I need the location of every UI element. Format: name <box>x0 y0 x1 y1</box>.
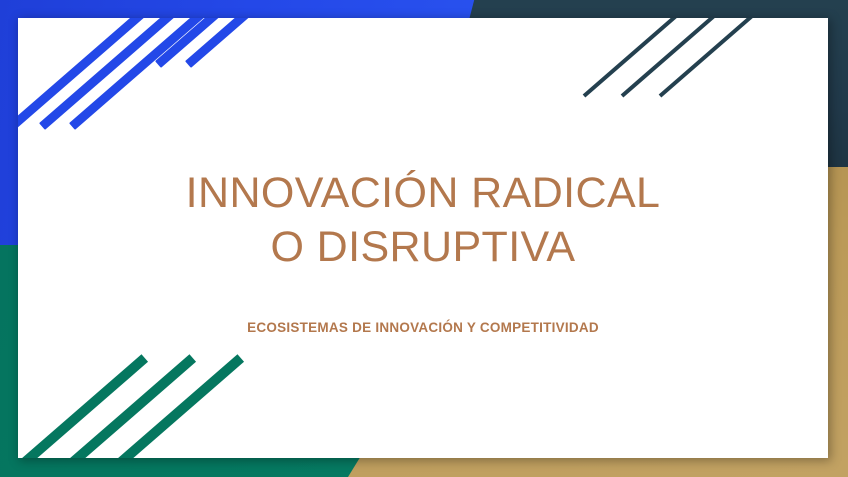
slide-title: INNOVACIÓN RADICAL O DISRUPTIVA <box>18 166 828 274</box>
navy-diagonal-stripes <box>584 18 814 122</box>
teal-diagonal-stripes <box>86 332 386 458</box>
gold-band-notches <box>562 402 792 458</box>
navy-stripe-3 <box>659 18 775 98</box>
gold-notch-1 <box>558 430 621 458</box>
blue-diagonal-stripes <box>18 18 378 162</box>
title-text-block: INNOVACIÓN RADICAL O DISRUPTIVA ECOSISTE… <box>18 166 828 335</box>
presentation-title-slide: INNOVACIÓN RADICAL O DISRUPTIVA ECOSISTE… <box>0 0 848 477</box>
slide-content-card: INNOVACIÓN RADICAL O DISRUPTIVA ECOSISTE… <box>18 18 828 458</box>
navy-stripe-2 <box>621 18 737 98</box>
navy-stripe-1 <box>583 18 699 98</box>
